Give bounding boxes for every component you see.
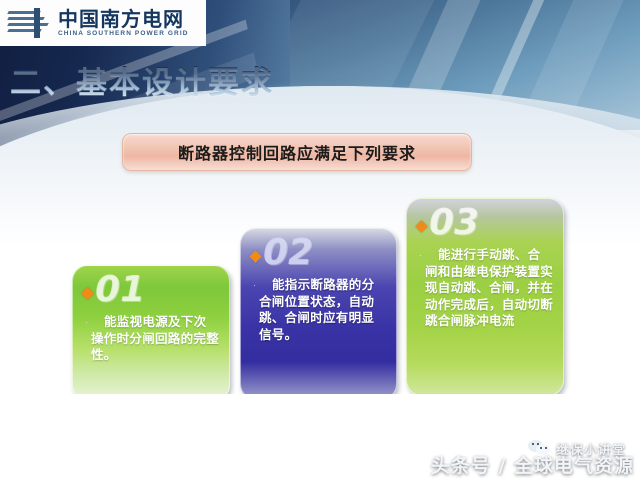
diamond-bullet-icon xyxy=(415,220,428,233)
slide-canvas: 中国南方电网 CHINA SOUTHERN POWER GRID 二、基本设计要… xyxy=(0,0,640,480)
card-number: 03 xyxy=(429,205,479,241)
company-logo: 中国南方电网 CHINA SOUTHERN POWER GRID xyxy=(0,0,206,46)
logo-chinese-name: 中国南方电网 xyxy=(58,9,189,29)
card-text: 能指示断路器的分合闸位置状态，自动跳、合闸时应有明显信号。 xyxy=(259,277,386,343)
diamond-bullet-icon xyxy=(81,287,94,300)
text-bullet-icon: · xyxy=(253,277,256,343)
diamond-bullet-icon xyxy=(249,250,262,263)
logo-english-name: CHINA SOUTHERN POWER GRID xyxy=(58,31,189,38)
toutiao-watermark: 头条号 / 全球电气资源 xyxy=(431,451,634,478)
requirement-card-03[interactable]: 03 · 能进行手动跳、合闸和由继电保护装置实现自动跳、合闸，并在动作完成后，自… xyxy=(406,198,564,396)
card-number: 01 xyxy=(95,272,145,308)
text-bullet-icon: · xyxy=(85,314,88,364)
card-number: 02 xyxy=(263,235,313,271)
page-title: 二、基本设计要求 xyxy=(10,57,274,102)
card-text: 能监视电源及下次操作时分闸回路的完整性。 xyxy=(91,314,219,364)
csg-logo-mark-icon xyxy=(8,8,52,38)
requirement-card-01[interactable]: 01 · 能监视电源及下次操作时分闸回路的完整性。 xyxy=(72,265,230,401)
requirement-card-02[interactable]: 02 · 能指示断路器的分合闸位置状态，自动跳、合闸时应有明显信号。 xyxy=(240,228,397,400)
section-banner-text: 断路器控制回路应满足下列要求 xyxy=(178,140,416,164)
card-text: 能进行手动跳、合闸和由继电保护装置实现自动跳、合闸，并在动作完成后，自动切断跳合… xyxy=(425,247,553,330)
section-banner: 断路器控制回路应满足下列要求 xyxy=(122,133,472,171)
text-bullet-icon: · xyxy=(419,247,422,330)
